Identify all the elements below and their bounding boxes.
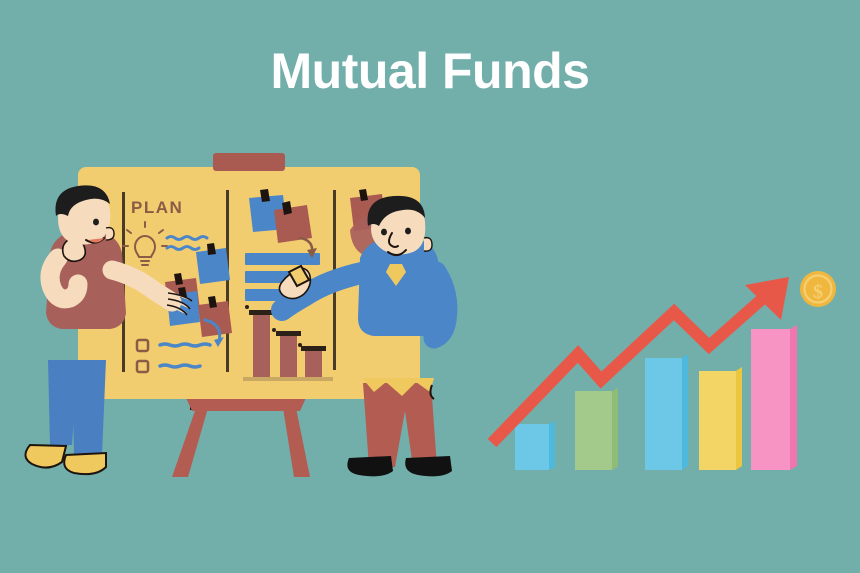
board-heading: PLAN <box>131 198 183 217</box>
growth-bar-1 <box>515 424 549 470</box>
illustration-svg: PLAN <box>0 0 860 573</box>
growth-bar-5 <box>751 329 790 470</box>
growth-bar-3 <box>645 358 682 470</box>
growth-bar-4 <box>699 371 736 470</box>
growth-bar-chart <box>492 277 797 470</box>
illustration-canvas: Mutual Funds PLAN <box>0 0 860 573</box>
growth-bar-2 <box>575 391 612 470</box>
svg-text:$: $ <box>813 281 823 303</box>
dollar-coin-icon: $ <box>800 271 836 307</box>
easel-stand <box>172 389 310 477</box>
